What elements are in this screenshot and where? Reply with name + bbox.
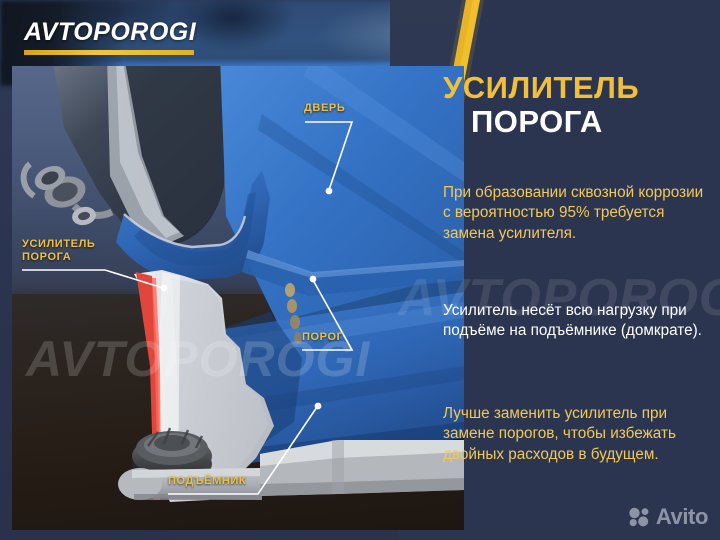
brand-logo: AVTOPOROGI bbox=[24, 18, 196, 55]
callout-label-reinforcement-line2: ПОРОГА bbox=[22, 251, 95, 264]
headline-line-1: УСИЛИТЕЛЬ bbox=[443, 72, 705, 105]
headline-line-2: ПОРОГА bbox=[443, 105, 705, 140]
poster-root: AVTOPOROGI bbox=[0, 0, 720, 540]
avito-wordmark: Avito bbox=[656, 504, 708, 530]
body-paragraph-3: Лучше заменить усилитель при замене поро… bbox=[443, 404, 711, 465]
callout-label-reinforcement: УСИЛИТЕЛЬ ПОРОГА bbox=[22, 238, 95, 265]
brand-logo-text: AVTOPOROGI bbox=[24, 18, 196, 47]
callout-label-sill: ПОРОГ bbox=[302, 331, 343, 343]
body-paragraph-2: Усилитель несёт всю нагрузку при подъёме… bbox=[443, 301, 711, 342]
body-paragraph-1: При образовании сквозной коррозии с веро… bbox=[443, 183, 711, 244]
callout-label-door: ДВЕРЬ bbox=[304, 102, 345, 114]
callout-label-reinforcement-line1: УСИЛИТЕЛЬ bbox=[22, 238, 95, 251]
car-sill-cutaway-illustration bbox=[12, 66, 464, 530]
illustration-panel: AVTOPOROGI bbox=[12, 66, 464, 530]
avito-watermark: Avito bbox=[628, 504, 708, 530]
avito-dots-icon bbox=[628, 507, 652, 527]
callout-label-lift: ПОДЪЁМНИК bbox=[168, 475, 246, 487]
headline-block: УСИЛИТЕЛЬ ПОРОГА bbox=[443, 72, 705, 139]
brand-logo-underline bbox=[24, 50, 194, 55]
